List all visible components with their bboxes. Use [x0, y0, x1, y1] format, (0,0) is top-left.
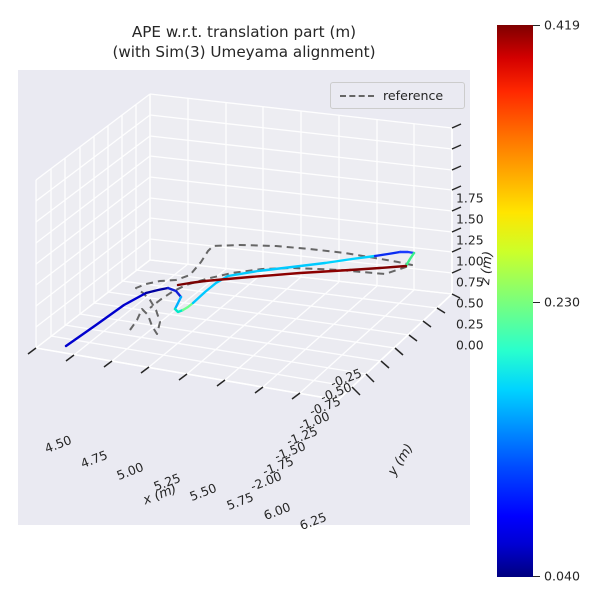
colorbar-tick-mid — [533, 302, 540, 303]
plot-title-line-1: APE w.r.t. translation part (m) — [132, 23, 356, 41]
ztick-label-1-75: 1.75 — [456, 191, 484, 206]
colorbar-label-max: 0.419 — [544, 18, 580, 33]
z-axis-label: z (m) — [478, 251, 496, 286]
ztick-label-0-00: 0.00 — [456, 338, 484, 353]
ztick-label-0-25: 0.25 — [456, 317, 484, 332]
colorbar[interactable]: 0.419 0.230 0.040 — [497, 25, 597, 577]
ztick-label-1-25: 1.25 — [456, 233, 484, 248]
colorbar-tick-max — [533, 25, 540, 26]
plot-title-line-2: (with Sim(3) Umeyama alignment) — [112, 43, 375, 61]
colorbar-label-mid: 0.230 — [544, 295, 580, 310]
colorbar-label-min: 0.040 — [544, 569, 580, 584]
colorbar-tick-min — [533, 576, 540, 577]
plot-title: APE w.r.t. translation part (m) (with Si… — [18, 22, 470, 62]
legend-reference-line-icon — [340, 95, 374, 97]
legend-reference-label: reference — [383, 88, 443, 103]
ztick-label-1-50: 1.50 — [456, 212, 484, 227]
ztick-label-0-50: 0.50 — [456, 296, 484, 311]
figure-canvas: APE w.r.t. translation part (m) (with Si… — [0, 0, 600, 600]
colorbar-gradient — [497, 25, 533, 577]
legend-box[interactable]: reference — [330, 82, 465, 109]
